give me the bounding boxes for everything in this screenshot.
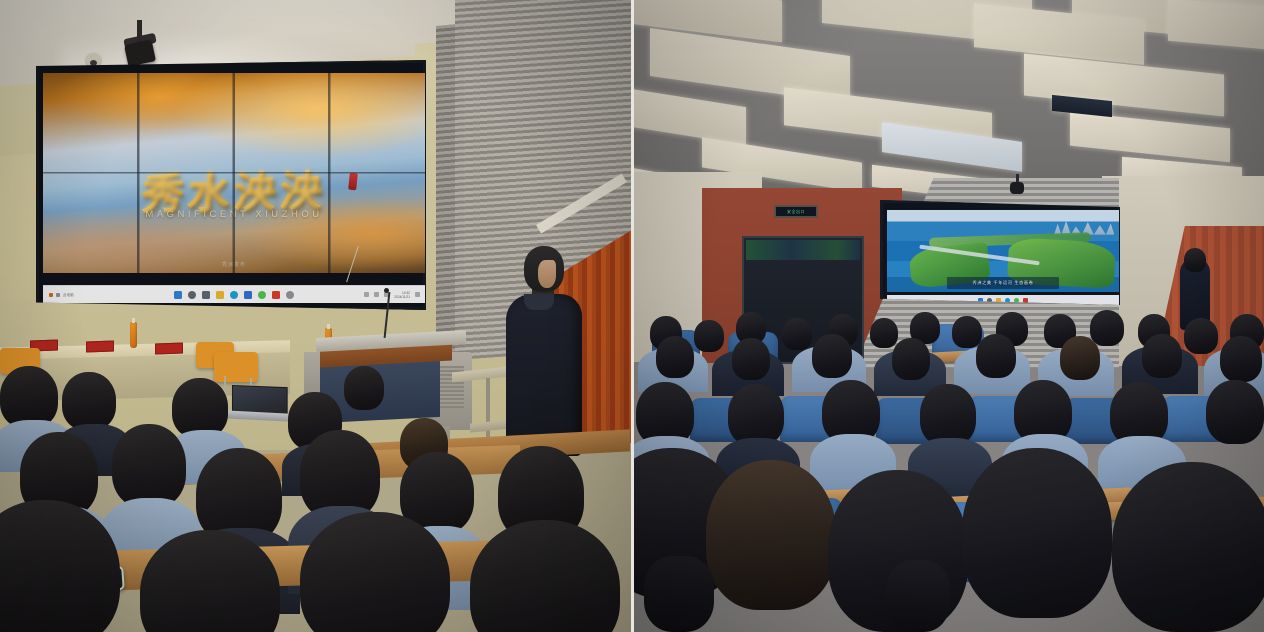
media-player-icon[interactable] bbox=[272, 291, 280, 299]
standing-staff-head bbox=[1184, 248, 1206, 272]
ceiling-light-panel bbox=[784, 87, 992, 151]
ceiling-spotlight-icon bbox=[1010, 182, 1024, 194]
audience-head bbox=[782, 318, 812, 350]
this-pc-icon[interactable] bbox=[56, 293, 60, 297]
taskbar-left-shortcut[interactable]: 此电脑 bbox=[49, 292, 74, 297]
video-wall-display[interactable]: 秀水泱泱 MAGNIFICENT XIUZHOU 秀洲发布 此电脑 bbox=[36, 60, 426, 310]
settings-icon[interactable] bbox=[286, 291, 294, 299]
laptop[interactable] bbox=[224, 386, 288, 420]
video-wall-bezel-grid bbox=[43, 73, 425, 273]
store-icon[interactable] bbox=[244, 291, 252, 299]
presenter-head bbox=[524, 246, 564, 292]
audience-head bbox=[952, 316, 982, 348]
photo-divider bbox=[631, 0, 634, 632]
ponytail bbox=[644, 556, 714, 632]
presenter-person bbox=[502, 246, 588, 456]
right-photo: 安全出口 秀洲之美 千年运河 生态画卷 bbox=[632, 0, 1264, 632]
network-icon[interactable] bbox=[374, 292, 379, 297]
exit-sign: 安全出口 bbox=[774, 205, 818, 218]
video-wall-screen: 秀水泱泱 MAGNIFICENT XIUZHOU 秀洲发布 bbox=[43, 73, 425, 273]
rear-video-caption: 秀洲之美 千年运河 生态画卷 bbox=[887, 280, 1119, 286]
audience-head bbox=[920, 384, 976, 446]
audience-head-foreground bbox=[300, 512, 450, 632]
search-icon[interactable] bbox=[188, 291, 196, 299]
audience-head-foreground bbox=[470, 520, 620, 632]
audience-head bbox=[728, 384, 784, 446]
taskbar-clock[interactable]: 14:52 2024/11/21 bbox=[394, 291, 410, 299]
water-bottle bbox=[130, 322, 137, 348]
rear-video-wall-display[interactable]: 秀洲之美 千年运河 生态画卷 bbox=[880, 200, 1120, 305]
audience-head-foreground bbox=[706, 460, 836, 610]
side-table-leg bbox=[486, 378, 490, 442]
audience-head bbox=[976, 334, 1016, 378]
audience-head bbox=[694, 320, 724, 352]
audience-head bbox=[1220, 336, 1262, 382]
wechat-icon[interactable] bbox=[258, 291, 266, 299]
audience-head bbox=[1184, 318, 1218, 354]
taskbar-icon-group[interactable] bbox=[174, 291, 294, 299]
ceiling-light-panel bbox=[632, 85, 746, 145]
audience-head-foreground bbox=[1112, 462, 1264, 632]
name-placard bbox=[155, 343, 183, 355]
task-view-icon[interactable] bbox=[202, 291, 210, 299]
ceiling-light-panel bbox=[1070, 112, 1230, 163]
exit-sign-label: 安全出口 bbox=[776, 209, 816, 215]
windows-taskbar[interactable]: 此电脑 14:52 bbox=[43, 285, 425, 303]
audience-head bbox=[1206, 380, 1264, 444]
ceiling-light-panel bbox=[1168, 0, 1264, 51]
microphone-head-icon bbox=[384, 288, 389, 293]
audience-head bbox=[344, 366, 384, 410]
name-placard bbox=[86, 341, 114, 353]
edge-browser-icon[interactable] bbox=[230, 291, 238, 299]
left-photo: 秀水泱泱 MAGNIFICENT XIUZHOU 秀洲发布 此电脑 bbox=[0, 0, 632, 632]
edge-browser-icon[interactable] bbox=[1005, 298, 1010, 303]
recycle-bin-icon[interactable] bbox=[49, 293, 53, 297]
audience-head bbox=[1060, 336, 1100, 380]
ponytail bbox=[886, 560, 950, 632]
rear-video-wall-screen: 秀洲之美 千年运河 生态画卷 bbox=[887, 210, 1119, 292]
photo-pair-stage: 秀水泱泱 MAGNIFICENT XIUZHOU 秀洲发布 此电脑 bbox=[0, 0, 1264, 632]
audience-head bbox=[812, 334, 852, 378]
audience-head bbox=[1090, 310, 1124, 346]
audience-head bbox=[656, 336, 694, 378]
file-explorer-icon[interactable] bbox=[996, 298, 1001, 303]
audience-head bbox=[0, 366, 58, 428]
audience-head bbox=[62, 372, 116, 430]
audience-head-foreground bbox=[962, 448, 1112, 618]
audience-head bbox=[1142, 334, 1182, 378]
audience-head bbox=[172, 378, 228, 438]
start-icon[interactable] bbox=[174, 291, 182, 299]
taskbar-left-label: 此电脑 bbox=[63, 292, 74, 297]
taskbar-system-tray[interactable]: 14:52 2024/11/21 bbox=[364, 291, 420, 299]
media-player-icon[interactable] bbox=[1023, 298, 1028, 303]
audience-head bbox=[732, 338, 770, 380]
audience-head bbox=[892, 338, 930, 380]
audience-head bbox=[112, 424, 186, 508]
notification-icon[interactable] bbox=[415, 292, 420, 297]
audience-head bbox=[870, 318, 898, 348]
presenter-face bbox=[538, 260, 556, 288]
wechat-icon[interactable] bbox=[1014, 298, 1019, 303]
door-glass-panel bbox=[746, 240, 860, 260]
clock-date: 2024/11/21 bbox=[394, 295, 410, 299]
chevron-up-icon[interactable] bbox=[364, 292, 369, 297]
ceiling-light-panel bbox=[1024, 53, 1224, 116]
file-explorer-icon[interactable] bbox=[216, 291, 224, 299]
presenter-collar bbox=[524, 294, 554, 310]
